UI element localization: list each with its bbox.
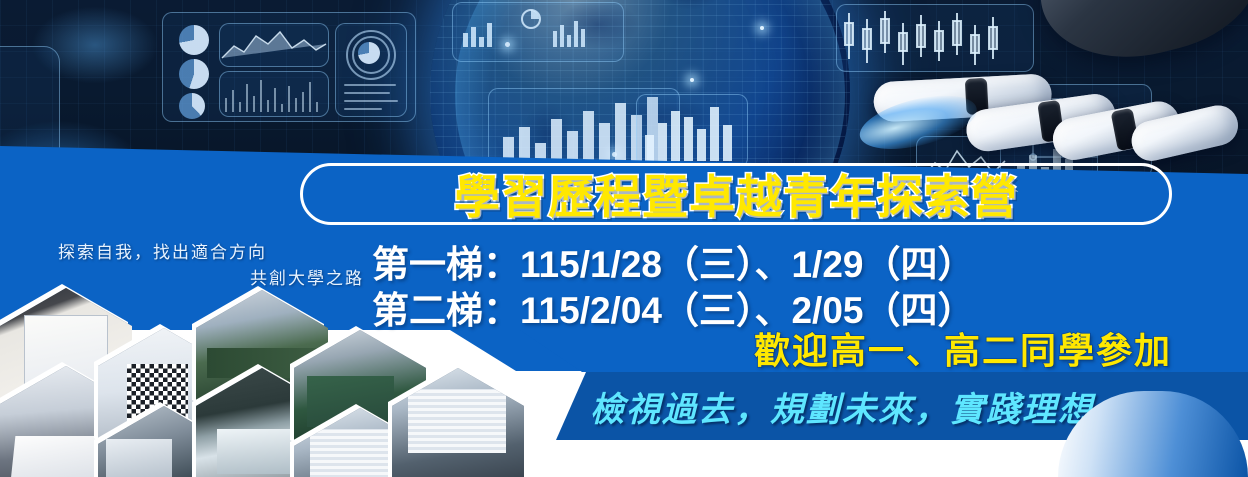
pie-chart-icon (179, 59, 209, 89)
text-line (344, 100, 398, 102)
equalizer-hud (636, 94, 748, 168)
equalizer-icon (637, 95, 747, 167)
promotional-banner: 探 索 探索自我，找出適合方向 共創大學之路 學習歷程暨卓越青年探索營 第一梯：… (0, 0, 1248, 477)
sparkle-icon (690, 78, 694, 82)
text-line (344, 84, 396, 86)
subtitle-block: 探索自我，找出適合方向 共創大學之路 (58, 240, 370, 293)
area-chart-panel (219, 23, 329, 67)
brand-title-char-2: 索 (156, 152, 252, 246)
main-title: 學習歷程暨卓越青年探索營 (310, 166, 1162, 222)
brand-title-char-1: 探 (38, 108, 134, 202)
area-chart-icon (220, 24, 328, 66)
text-line (344, 92, 390, 94)
robot-palm (1023, 0, 1248, 78)
pie-chart-icon (358, 42, 380, 64)
subtitle-line-2: 共創大學之路 (58, 266, 370, 292)
data-dashboard-hud (162, 12, 416, 122)
pie-chart-icon (179, 25, 209, 55)
radial-report-panel (335, 23, 407, 117)
metrics-icons (453, 3, 623, 61)
metrics-hud (452, 2, 624, 62)
sparkle-icon (760, 26, 764, 30)
subtitle-line-1: 探索自我，找出適合方向 (58, 243, 267, 262)
welcome-text: 歡迎高一、高二同學參加 (0, 322, 1248, 374)
